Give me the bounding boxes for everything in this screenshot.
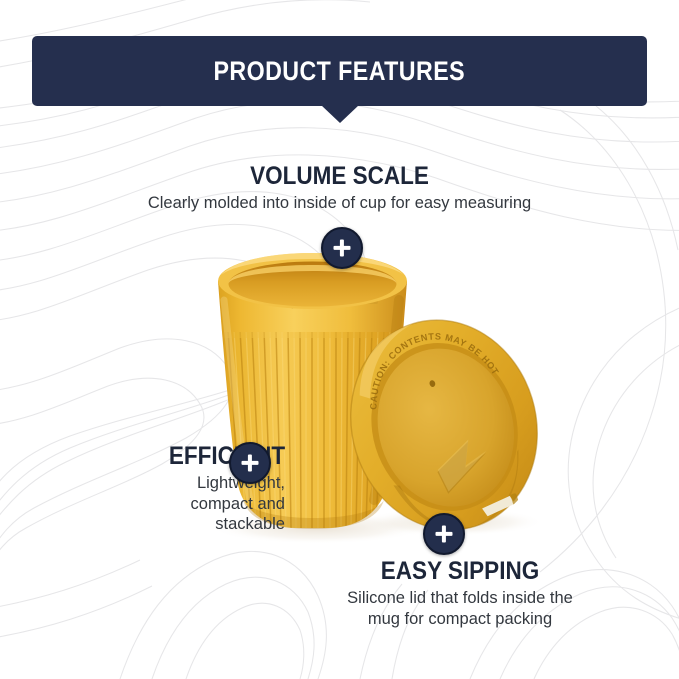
callout-title: EASY SIPPING — [298, 558, 622, 584]
callout-description: Silicone lid that folds inside the mug f… — [280, 588, 640, 629]
callout-description-line: mug for compact packing — [280, 609, 640, 629]
callout-easy-sipping: EASY SIPPING Silicone lid that folds ins… — [280, 558, 640, 629]
callout-title: VOLUME SCALE — [34, 163, 645, 189]
banner-notch-triangle — [321, 105, 359, 123]
callout-description-line: stackable — [60, 514, 285, 534]
callout-description-line: compact and — [60, 494, 285, 514]
plus-icon-efficient[interactable] — [229, 442, 271, 484]
plus-icon-easy-sipping[interactable] — [423, 513, 465, 555]
callout-description: Clearly molded into inside of cup for ea… — [0, 193, 679, 213]
page-title: PRODUCT FEATURES — [214, 56, 466, 87]
plus-icon-volume-scale[interactable] — [321, 227, 363, 269]
infographic-canvas: PRODUCT FEATURES — [0, 0, 679, 679]
callout-description-line: Silicone lid that folds inside the — [280, 588, 640, 608]
product-features-banner: PRODUCT FEATURES — [32, 36, 647, 106]
callout-volume-scale: VOLUME SCALE Clearly molded into inside … — [0, 163, 679, 214]
